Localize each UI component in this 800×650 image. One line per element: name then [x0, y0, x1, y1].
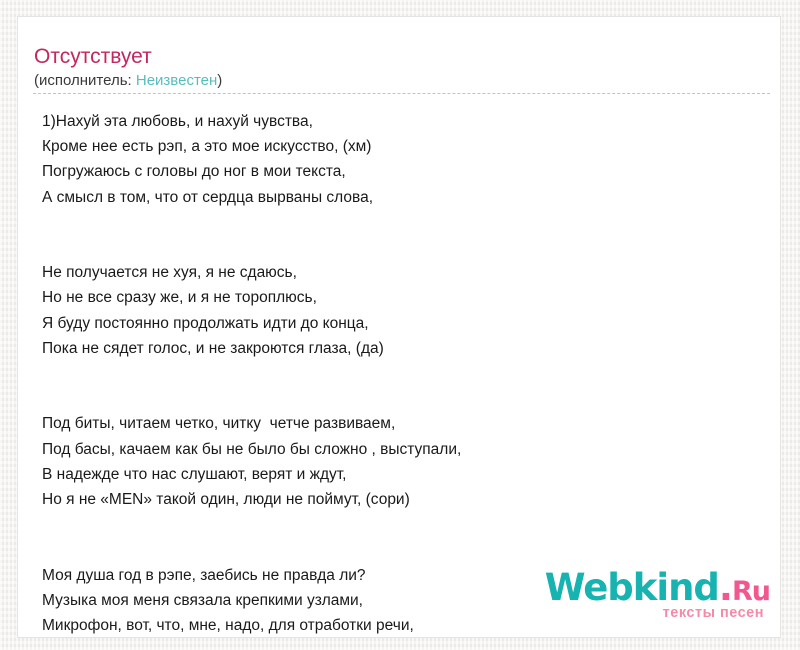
lyrics-line: Погружаюсь с головы до ног в мои текста,: [42, 159, 762, 184]
lyrics-blank-line: [42, 361, 762, 386]
lyrics-line: Под биты, читаем четко, читку четче разв…: [42, 411, 762, 436]
logo-tld-text: Ru: [732, 576, 770, 607]
lyrics-line: В надежде что нас слушают, верят и ждут,: [42, 462, 762, 487]
lyrics-blank-line: [42, 537, 762, 562]
artist-prefix-label: (исполнитель:: [34, 72, 136, 89]
webkind-logo[interactable]: Webkind.Ru тексты песен: [538, 569, 770, 623]
lyrics-line: Я буду постоянно продолжать идти до конц…: [42, 311, 762, 336]
artist-link[interactable]: Неизвестен: [136, 72, 217, 89]
lyrics-blank-line: [42, 210, 762, 235]
lyrics-blank-line: [42, 512, 762, 537]
lyrics-line: Но не все сразу же, и я не тороплюсь,: [42, 285, 762, 310]
logo-dot-text: .: [719, 566, 732, 609]
lyrics-line: Не получается не хуя, я не сдаюсь,: [42, 260, 762, 285]
lyrics-text: 1)Нахуй эта любовь, и нахуй чувства,Кром…: [42, 109, 762, 637]
lyrics-line: 1)Нахуй эта любовь, и нахуй чувства,: [42, 109, 762, 134]
lyrics-line: Пока не сядет голос, и не закроются глаз…: [42, 336, 762, 361]
lyrics-line: Но я не «MEN» такой один, люди не поймут…: [42, 487, 762, 512]
lyrics-content-panel: Отсутствует (исполнитель: Неизвестен) 1)…: [18, 17, 780, 637]
page-title: Отсутствует: [34, 45, 152, 69]
logo-brand-text: Webkind: [545, 566, 719, 609]
lyrics-blank-line: [42, 386, 762, 411]
lyrics-line: Кроме нее есть рэп, а это мое искусство,…: [42, 134, 762, 159]
lyrics-blank-line: [42, 235, 762, 260]
lyrics-line: Под басы, качаем как бы не было бы сложн…: [42, 437, 762, 462]
artist-suffix-label: ): [217, 72, 222, 89]
lyrics-line: А смысл в том, что от сердца вырваны сло…: [42, 185, 762, 210]
artist-line: (исполнитель: Неизвестен): [34, 71, 222, 90]
header-divider: [33, 93, 770, 94]
